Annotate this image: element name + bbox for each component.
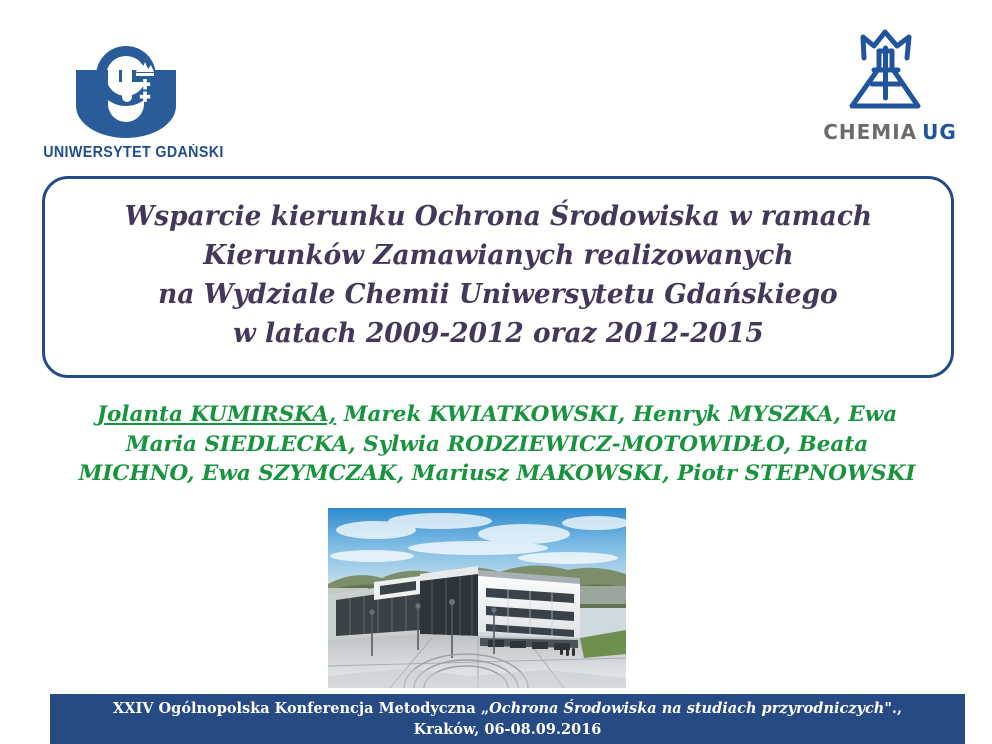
footer-emphasis: Ochrona Środowiska na studiach przyrodni…	[489, 700, 884, 717]
author-line-3: MICHNO, Ewa SZYMCZAK, Mariusz MAKOWSKI, …	[79, 461, 916, 486]
chemia-flask-crown-icon	[830, 24, 950, 124]
faculty-of-chemistry-building-photo	[328, 508, 626, 688]
footer-suffix: ".,	[884, 700, 902, 717]
title-line-2: Kierunków Zamawianych realizowanych	[203, 236, 793, 275]
slide-title-box: Wsparcie kierunku Ochrona Środowiska w r…	[42, 176, 954, 378]
conference-footer: XXIV Ogólnopolska Konferencja Metodyczna…	[50, 694, 965, 744]
title-line-3: na Wydziale Chemii Uniwersytetu Gdańskie…	[158, 275, 838, 314]
author-line-2: Maria SIEDLECKA, Sylwia RODZIEWICZ-MOTOW…	[126, 432, 868, 457]
chemia-ug-wordmark: CHEMIAUG	[806, 120, 974, 144]
title-line-1: Wsparcie kierunku Ochrona Środowiska w r…	[124, 197, 872, 236]
author-line-1-rest: Marek KWIATKOWSKI, Henryk MYSZKA, Ewa	[336, 402, 897, 427]
ug-word: UG	[922, 120, 957, 144]
author-list: Jolanta KUMIRSKA, Marek KWIATKOWSKI, Hen…	[66, 400, 928, 489]
university-wordmark: UNIWERSYTET GDAŃSKI	[43, 144, 209, 162]
footer-line-2: Kraków, 06-08.09.2016	[414, 719, 602, 740]
university-logo: UNIWERSYTET GDAŃSKI	[36, 42, 216, 162]
presenting-author: Jolanta KUMIRSKA,	[97, 402, 337, 427]
chemia-word: CHEMIA	[823, 120, 917, 144]
chemia-ug-logo: CHEMIAUG	[806, 24, 974, 144]
building-photo-graphic	[328, 508, 626, 688]
title-line-4: w latach 2009-2012 oraz 2012-2015	[233, 314, 764, 353]
footer-line-1: XXIV Ogólnopolska Konferencja Metodyczna…	[113, 698, 902, 719]
ug-crest-icon	[70, 42, 182, 138]
footer-prefix: XXIV Ogólnopolska Konferencja Metodyczna…	[113, 700, 489, 717]
